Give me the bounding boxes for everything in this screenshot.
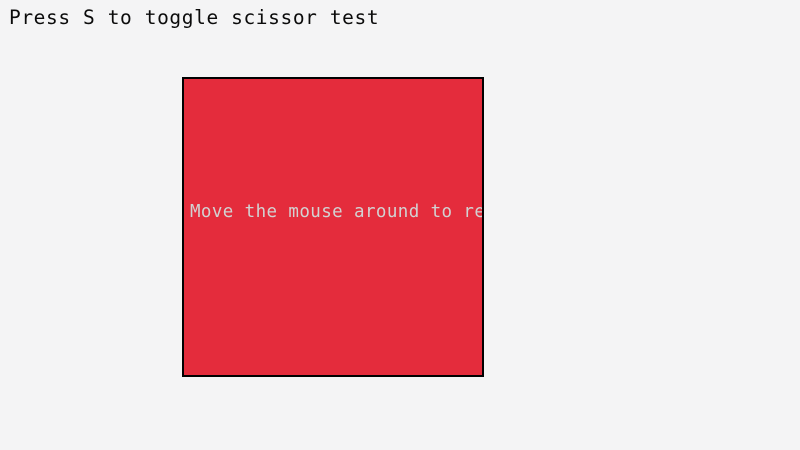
app-canvas: Press S to toggle scissor test Move the …	[0, 0, 800, 450]
scissor-clip-region: Move the mouse around to reveal more of …	[184, 79, 482, 375]
scissor-test-rectangle[interactable]: Move the mouse around to reveal more of …	[182, 77, 484, 377]
scissor-test-hint-label: Press S to toggle scissor test	[9, 6, 379, 30]
clipped-message-label: Move the mouse around to reveal more of …	[190, 201, 482, 223]
